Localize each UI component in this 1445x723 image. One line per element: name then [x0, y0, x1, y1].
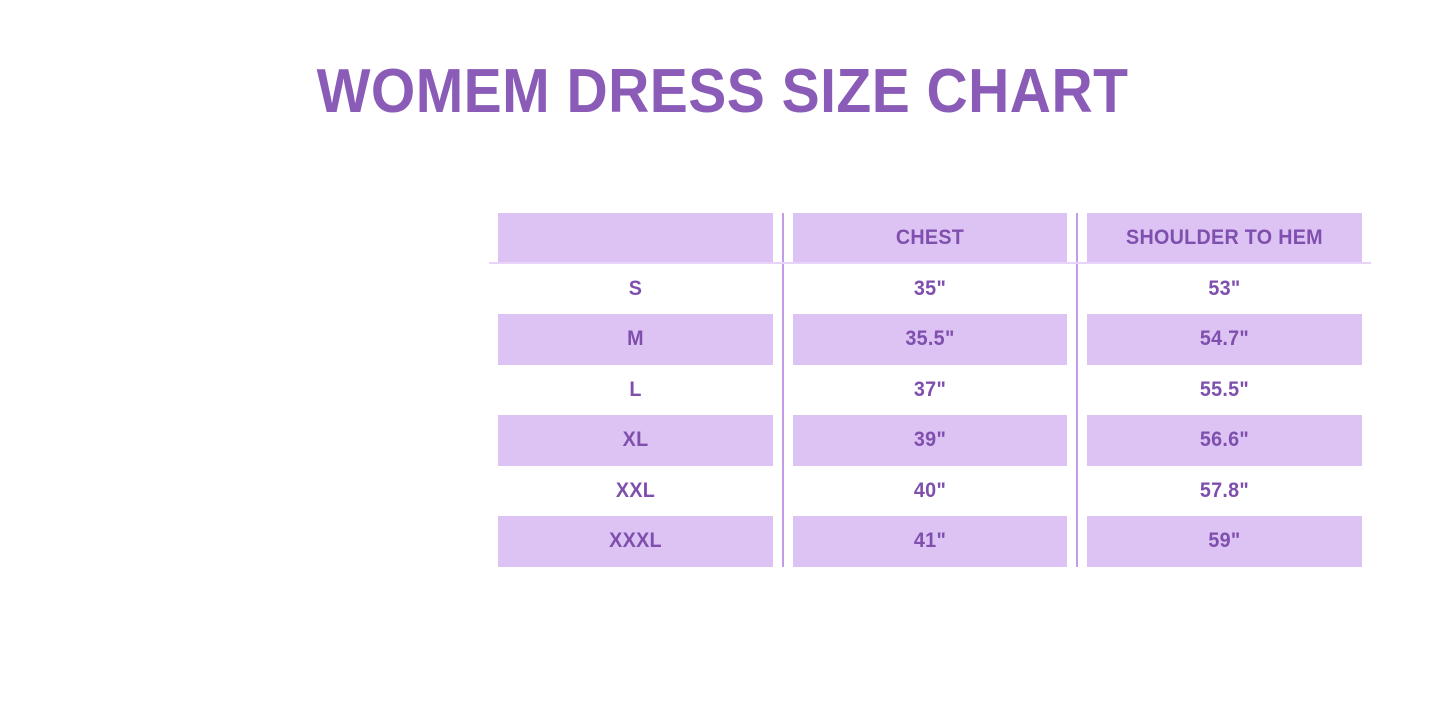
cell-chest: 35" [792, 264, 1068, 315]
page-title: WOMEM DRESS SIZE CHART [58, 56, 1387, 128]
cell-chest: 41" [792, 516, 1068, 567]
cell-chest: 39" [792, 415, 1068, 466]
table-body: S 35" 53" M 35.5" 54.7" L 37" 55.5" XL 3… [489, 264, 1371, 567]
table-row: S 35" 53" [489, 264, 1371, 315]
size-chart-page: WOMEM DRESS SIZE CHART CHEST SHOULDER TO… [0, 0, 1445, 723]
table-row: XXL 40" 57.8" [489, 466, 1371, 517]
table-header-row: CHEST SHOULDER TO HEM [489, 213, 1371, 264]
cell-shoulder-to-hem: 53" [1086, 264, 1362, 315]
cell-size: S [498, 264, 774, 315]
cell-shoulder-to-hem: 59" [1086, 516, 1362, 567]
cell-size: XXXL [498, 516, 774, 567]
table-row: M 35.5" 54.7" [489, 314, 1371, 365]
cell-chest: 35.5" [792, 314, 1068, 365]
cell-chest: 37" [792, 365, 1068, 416]
cell-shoulder-to-hem: 54.7" [1086, 314, 1362, 365]
table-header: CHEST SHOULDER TO HEM [489, 213, 1371, 264]
cell-size: XL [498, 415, 774, 466]
table-row: XXXL 41" 59" [489, 516, 1371, 567]
cell-size: XXL [498, 466, 774, 517]
column-header-chest: CHEST [792, 213, 1068, 264]
cell-chest: 40" [792, 466, 1068, 517]
cell-shoulder-to-hem: 55.5" [1086, 365, 1362, 416]
cell-size: L [498, 365, 774, 416]
table-row: XL 39" 56.6" [489, 415, 1371, 466]
cell-shoulder-to-hem: 57.8" [1086, 466, 1362, 517]
column-header-size [498, 213, 774, 264]
column-header-shoulder-to-hem: SHOULDER TO HEM [1086, 213, 1362, 264]
table-row: L 37" 55.5" [489, 365, 1371, 416]
cell-shoulder-to-hem: 56.6" [1086, 415, 1362, 466]
header-divider [489, 262, 1371, 264]
cell-size: M [498, 314, 774, 365]
size-chart-table: CHEST SHOULDER TO HEM S 35" 53" M 35.5" … [489, 213, 1371, 567]
